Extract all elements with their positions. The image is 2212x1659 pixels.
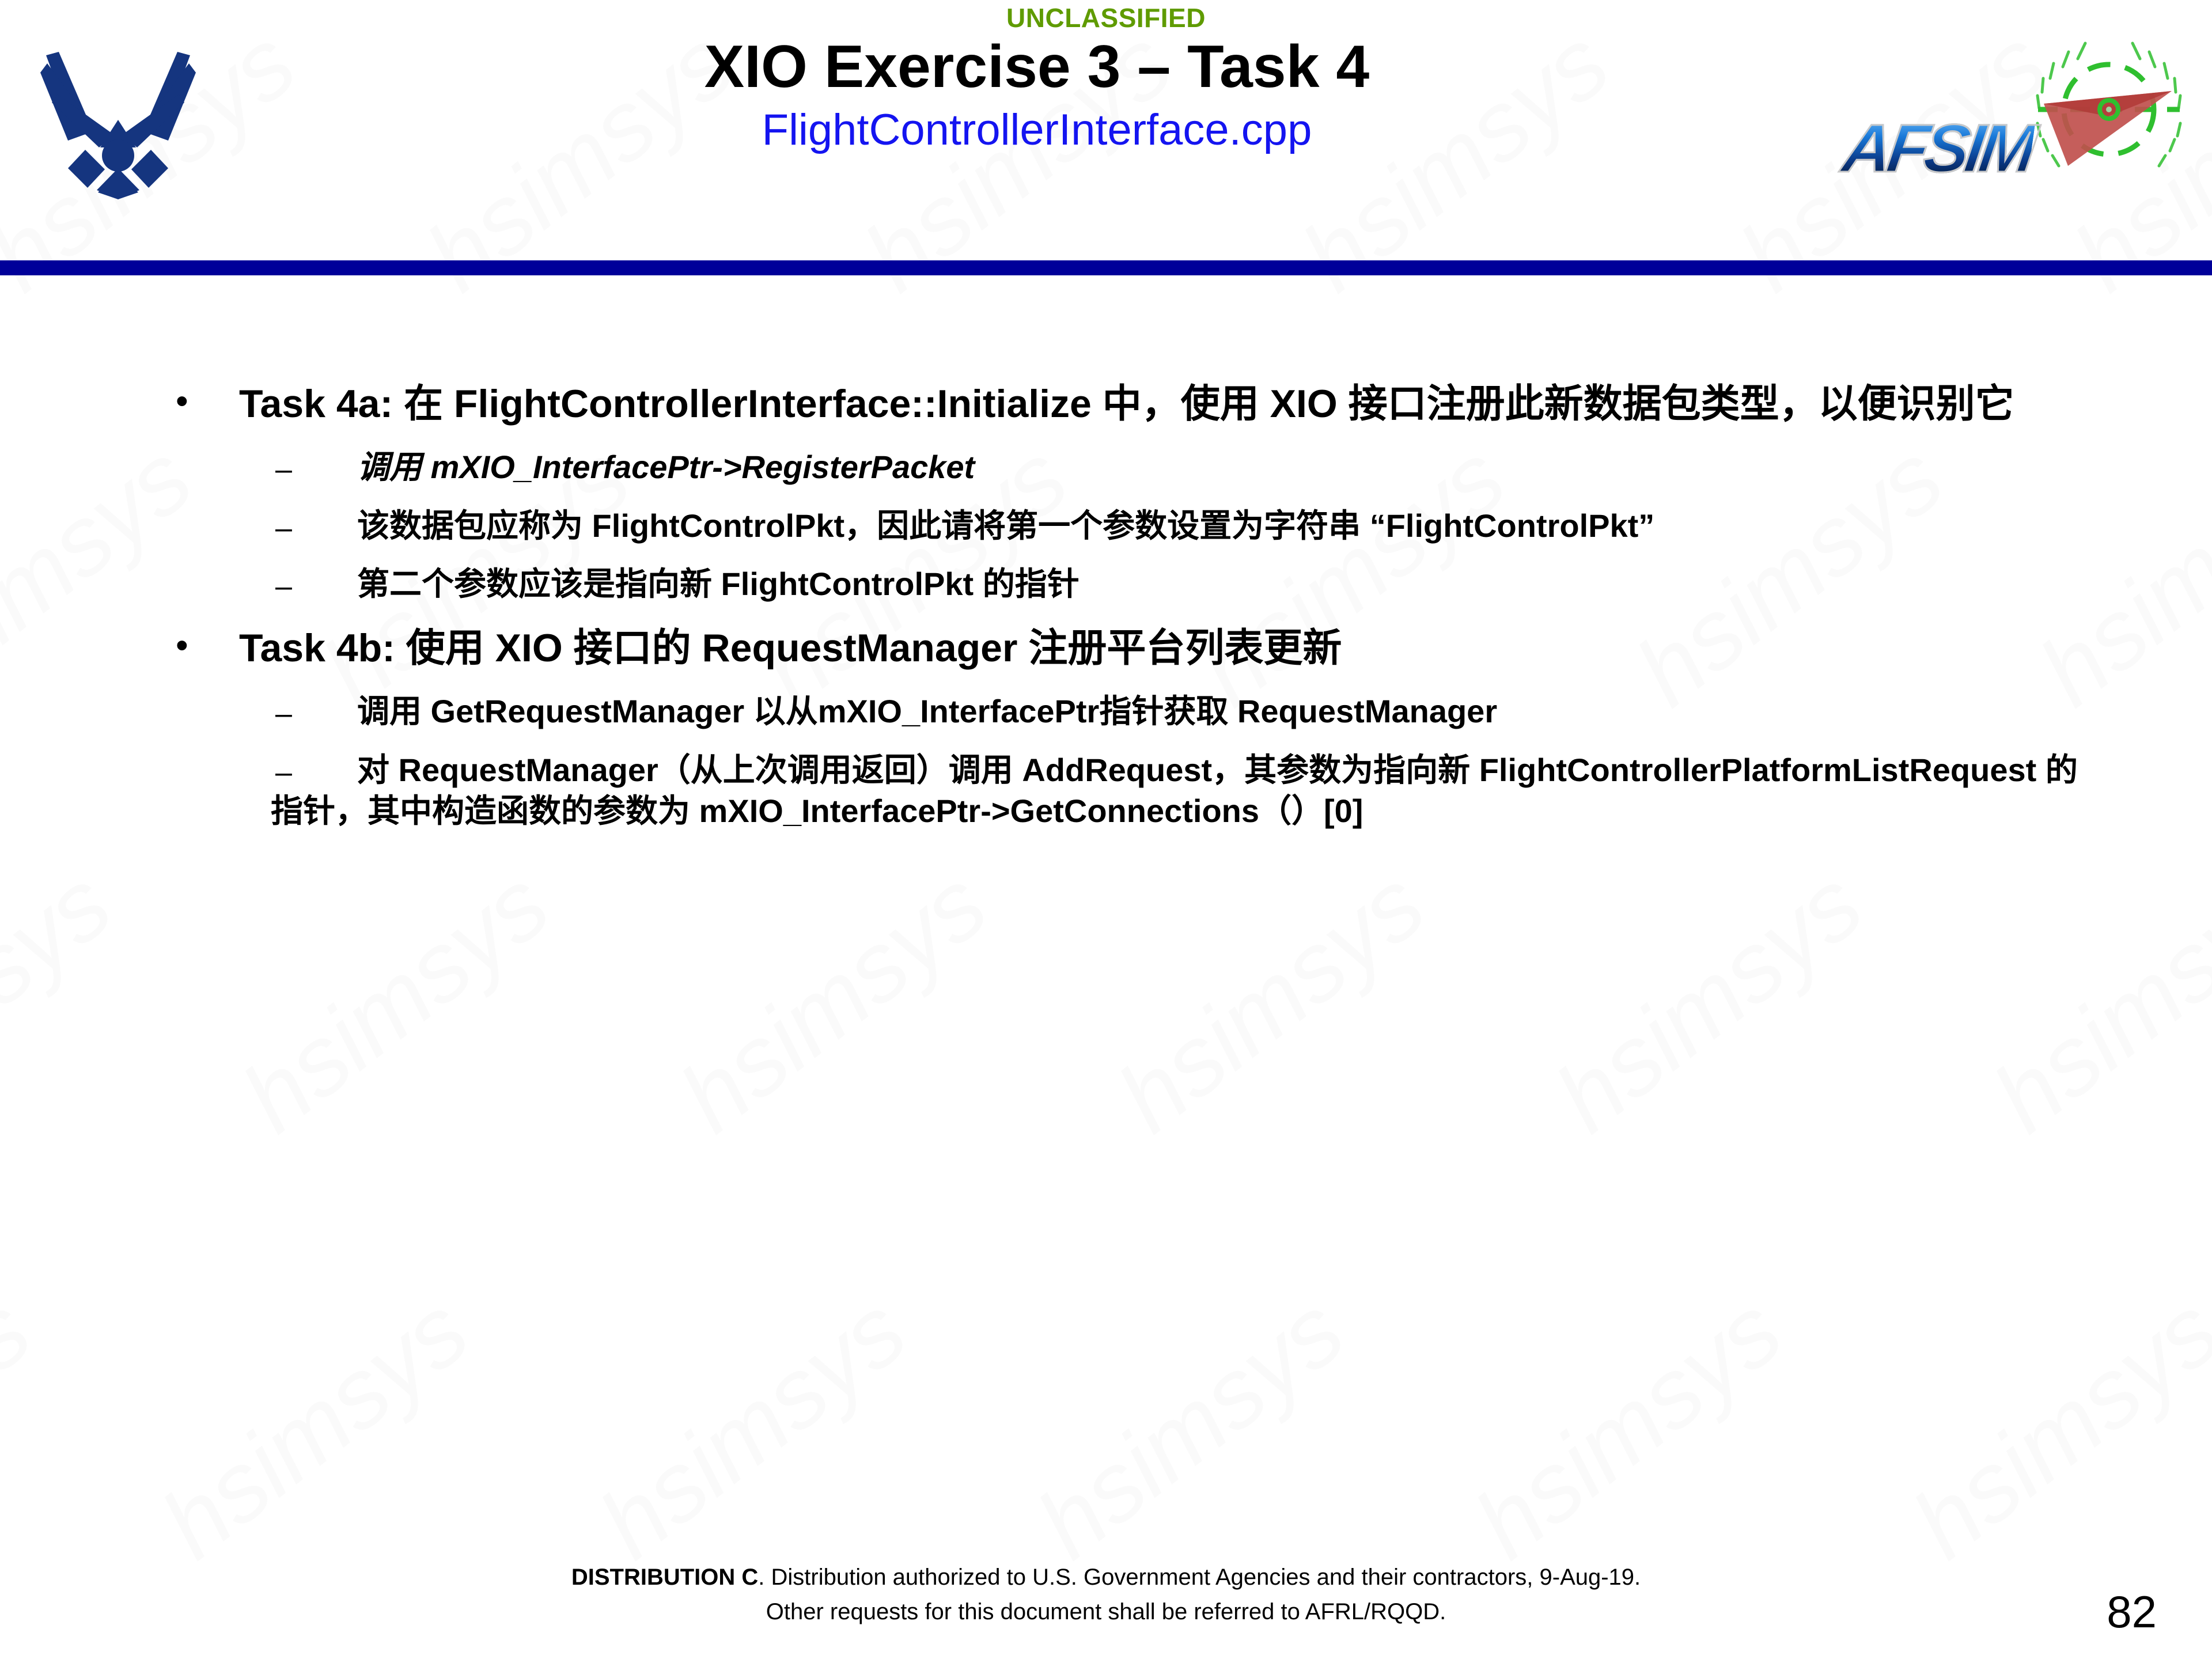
watermark-text: hsimsys <box>579 1274 927 1581</box>
bullet-text: Task 4b: 使用 XIO 接口的 RequestManager 注册平台列… <box>239 624 1342 672</box>
sub-bullet-add-request: – 对 RequestManager（从上次调用返回）调用 AddRequest… <box>0 749 2212 832</box>
distribution-label: DISTRIBUTION C <box>571 1565 758 1590</box>
sub-bullet-get-request-manager: – 调用 GetRequestManager 以从mXIO_InterfaceP… <box>0 691 2212 732</box>
sub-bullet-dash-icon: – <box>275 513 292 543</box>
watermark-text: hsimsys <box>660 848 1007 1154</box>
afsim-logo-icon: AFSIM <box>1838 17 2183 202</box>
title-block: XIO Exercise 3 – Task 4 FlightController… <box>242 35 1832 153</box>
watermark-text: hsimsys <box>1017 1274 1365 1581</box>
sub-bullet-dash-icon: – <box>275 571 292 601</box>
bullet-item-task-4b: • Task 4b: 使用 XIO 接口的 RequestManager 注册平… <box>0 624 2212 672</box>
sub-bullet-packet-name: – 该数据包应称为 FlightControlPkt，因此请将第一个参数设置为字… <box>0 505 2212 547</box>
watermark-text: hsimsys <box>141 1274 489 1581</box>
sub-bullet-dash-icon: – <box>275 757 292 787</box>
sub-bullet-second-parameter: – 第二个参数应该是指向新 FlightControlPkt 的指针 <box>0 563 2212 605</box>
watermark-text: hsimsys <box>1097 848 1445 1154</box>
watermark-text: hsimsys <box>1892 1274 2212 1581</box>
us-air-force-logo-icon <box>23 28 213 200</box>
header-divider <box>0 260 2212 275</box>
distribution-line-1: DISTRIBUTION C. Distribution authorized … <box>0 1560 2212 1594</box>
sub-bullet-text: 对 RequestManager（从上次调用返回）调用 AddRequest，其… <box>271 752 2078 829</box>
content-body: • Task 4a: 在 FlightControllerInterface::… <box>0 380 2212 834</box>
sub-bullet-dash-icon: – <box>275 454 292 484</box>
bullet-dot-icon: • <box>176 628 188 664</box>
page-title: XIO Exercise 3 – Task 4 <box>242 35 1832 99</box>
distribution-line-1-rest: . Distribution authorized to U.S. Govern… <box>758 1565 1641 1590</box>
watermark-text: hsimsys <box>0 1274 51 1581</box>
watermark-text: hsimsys <box>1973 848 2212 1154</box>
page-number: 82 <box>2107 1586 2157 1638</box>
watermark-text: hsimsys <box>0 848 132 1154</box>
sub-bullet-text: 第二个参数应该是指向新 FlightControlPkt 的指针 <box>357 566 1080 602</box>
sub-bullet-text: 调用 GetRequestManager 以从mXIO_InterfacePtr… <box>357 693 1497 729</box>
watermark-text: hsimsys <box>1455 1274 1802 1581</box>
watermark-text: hsimsys <box>1535 848 1883 1154</box>
page-subtitle: FlightControllerInterface.cpp <box>242 107 1832 153</box>
distribution-line-2: Other requests for this document shall b… <box>0 1594 2212 1629</box>
sub-bullet-register-packet: – 调用 mXIO_InterfacePtr->RegisterPacket <box>0 446 2212 488</box>
afsim-wordmark: AFSIM <box>1843 109 2085 196</box>
sub-bullet-text: 调用 mXIO_InterfacePtr->RegisterPacket <box>357 449 975 485</box>
afsim-wordmark-text: AFSIM <box>1838 109 2037 188</box>
sub-bullet-text: 该数据包应称为 FlightControlPkt，因此请将第一个参数设置为字符串… <box>357 507 1654 544</box>
bullet-text: Task 4a: 在 FlightControllerInterface::In… <box>239 380 2014 428</box>
distribution-statement: DISTRIBUTION C. Distribution authorized … <box>0 1560 2212 1629</box>
bullet-dot-icon: • <box>176 384 188 419</box>
bullet-item-task-4a: • Task 4a: 在 FlightControllerInterface::… <box>0 380 2212 428</box>
sub-bullet-dash-icon: – <box>275 699 292 729</box>
watermark-text: hsimsys <box>222 848 570 1154</box>
slide-canvas: hsimsys hsimsys hsimsys hsimsys hsimsys … <box>0 0 2212 1659</box>
